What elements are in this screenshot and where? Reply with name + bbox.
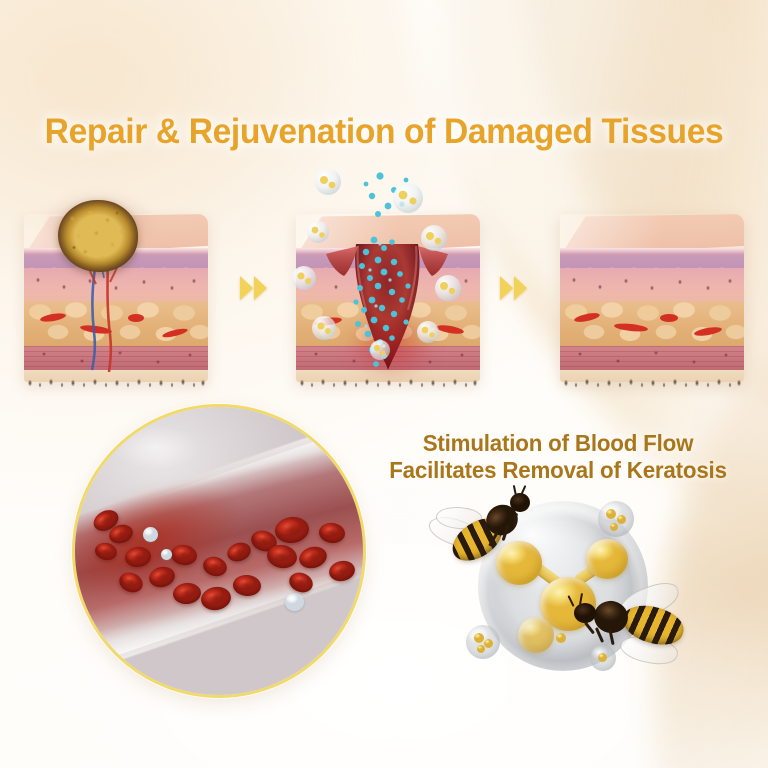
blood-flow-circle [72, 404, 366, 698]
mini-bubble [598, 501, 634, 537]
skin-block-treatment [288, 192, 488, 387]
keratosis-lesion [58, 200, 138, 272]
skin-base-fringe [296, 378, 480, 392]
skin-base-fringe [560, 378, 744, 392]
subtitle: Stimulation of Blood Flow Facilitates Re… [368, 430, 748, 485]
molecule-atom [518, 617, 554, 653]
mini-molecule-atom [477, 645, 485, 653]
mini-bubble [466, 625, 500, 659]
chevron-right-icon [240, 276, 253, 300]
chevron-right-icon [254, 276, 267, 300]
skin-block-damaged [16, 192, 216, 387]
skin-base-fringe [24, 378, 208, 392]
subtitle-line-2: Facilitates Removal of Keratosis [368, 457, 748, 484]
bee-lower-right [572, 589, 690, 675]
mini-molecule-atom [606, 509, 616, 519]
muscle-speckles [560, 348, 744, 370]
mini-molecule-atom [610, 523, 618, 531]
molecule-atom [586, 539, 628, 579]
mini-molecule-atom [484, 639, 493, 648]
circle-gloss [75, 407, 363, 695]
chevron-right-icon [514, 276, 527, 300]
mini-molecule-atom [556, 633, 566, 643]
bee-upper-left [430, 491, 530, 569]
skin-cross-section [560, 214, 744, 382]
mini-molecule-atom [474, 633, 484, 643]
mini-molecule-atom [617, 515, 626, 524]
bee-molecule-illustration [420, 485, 680, 700]
serum-bubbles [282, 160, 497, 390]
dermis-speckles [560, 276, 744, 296]
fat-lobules [560, 300, 744, 350]
chevron-right-icon [500, 276, 513, 300]
bee-head [574, 603, 596, 623]
poster-root: Repair & Rejuvenation of Damaged Tissues [0, 0, 768, 768]
subtitle-line-1: Stimulation of Blood Flow [368, 430, 748, 457]
arrow-2 [500, 276, 527, 300]
bee-leg [584, 622, 595, 635]
epidermis-highlight [560, 248, 744, 254]
arrow-1 [240, 276, 267, 300]
fat-vessel [660, 314, 678, 322]
skin-block-healed [552, 192, 752, 387]
page-title: Repair & Rejuvenation of Damaged Tissues [15, 112, 752, 152]
